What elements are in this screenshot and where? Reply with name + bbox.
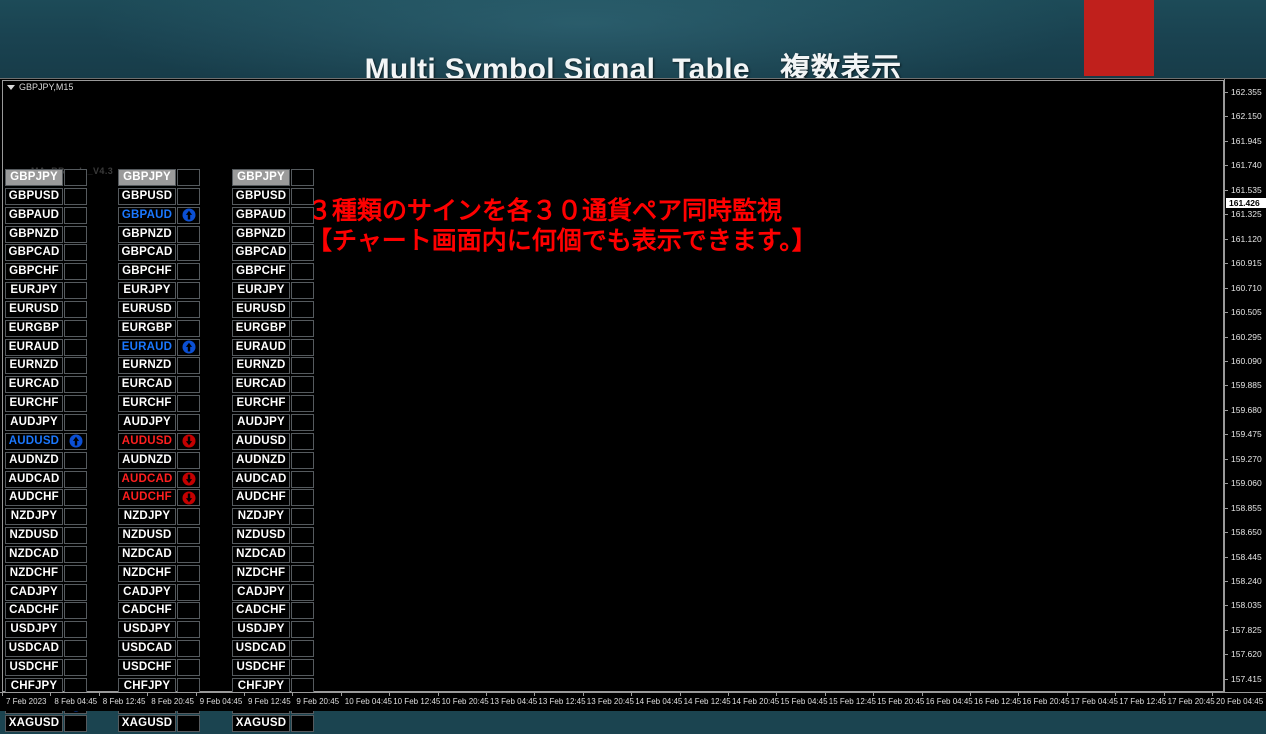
screen-root: Multi Symbol Signal_Table 複数表示 GBPJPY,M1…	[0, 0, 1266, 710]
signal-cell-nzdusd[interactable]	[64, 527, 87, 544]
table-row: EURNZD	[5, 357, 87, 376]
table-row: AUDJPY	[232, 414, 314, 433]
time-tick: 17 Feb 12:45	[1119, 697, 1166, 706]
time-tick: 16 Feb 12:45	[974, 697, 1021, 706]
table-row: NZDUSD	[232, 527, 314, 546]
symbol-cell-gbpjpy[interactable]: GBPJPY	[5, 169, 63, 186]
symbol-cell-usdchf[interactable]: USDCHF	[232, 659, 290, 676]
signal-cell-xagusd[interactable]	[177, 715, 200, 732]
table-row: USDCHF	[5, 659, 87, 678]
signal-cell-eurchf[interactable]	[177, 395, 200, 412]
price-tick: 160.710	[1225, 283, 1266, 294]
symbol-cell-eurjpy[interactable]: EURJPY	[5, 282, 63, 299]
table-row: GBPJPY	[5, 169, 87, 188]
table-row: NZDCAD	[232, 546, 314, 565]
table-row: GBPCAD	[118, 244, 200, 263]
symbol-cell-eurgbp[interactable]: EURGBP	[5, 320, 63, 337]
signal-cell-eurusd[interactable]	[177, 301, 200, 318]
signal-cell-usdcad[interactable]	[291, 640, 314, 657]
table-row: NZDCHF	[5, 565, 87, 584]
signal-cell-eurnzd[interactable]	[291, 357, 314, 374]
signal-cell-eurcad[interactable]	[64, 376, 87, 393]
symbol-cell-nzdchf[interactable]: NZDCHF	[118, 565, 176, 582]
table-row: GBPAUD	[232, 207, 314, 226]
table-row: AUDNZD	[118, 452, 200, 471]
table-row: EURJPY	[118, 282, 200, 301]
table-row: AUDUSD	[118, 433, 200, 452]
price-tick: 158.240	[1225, 576, 1266, 587]
time-axis[interactable]: 7 Feb 20238 Feb 04:458 Feb 12:458 Feb 20…	[0, 692, 1266, 711]
symbol-cell-eurusd[interactable]: EURUSD	[5, 301, 63, 318]
table-row: USDCAD	[118, 640, 200, 659]
table-row: XAGUSD	[118, 715, 200, 734]
time-tick: 9 Feb 04:45	[200, 697, 243, 706]
symbol-cell-eurusd[interactable]: EURUSD	[232, 301, 290, 318]
symbol-cell-usdcad[interactable]: USDCAD	[118, 640, 176, 657]
price-tick: 157.825	[1225, 625, 1266, 636]
symbol-cell-gbpchf[interactable]: GBPCHF	[118, 263, 176, 280]
table-row: EURCAD	[5, 376, 87, 395]
time-tick: 17 Feb 20:45	[1168, 697, 1215, 706]
signal-cell-audjpy[interactable]	[64, 414, 87, 431]
signal-cell-nzdchf[interactable]	[177, 565, 200, 582]
table-row: EURJPY	[5, 282, 87, 301]
price-tick: 157.620	[1225, 649, 1266, 660]
symbol-cell-audjpy[interactable]: AUDJPY	[5, 414, 63, 431]
signal-cell-nzdchf[interactable]	[64, 565, 87, 582]
symbol-cell-gbpaud[interactable]: GBPAUD	[5, 207, 63, 224]
symbol-cell-nzdcad[interactable]: NZDCAD	[118, 546, 176, 563]
promo-line-2: 【チャート画面内に何個でも表示できます。】	[307, 226, 817, 256]
signal-cell-gbpusd[interactable]	[64, 188, 87, 205]
symbol-cell-audusd[interactable]: AUDUSD	[118, 433, 176, 450]
price-tick: 160.505	[1225, 307, 1266, 318]
symbol-cell-gbpcad[interactable]: GBPCAD	[5, 244, 63, 261]
signal-cell-eurnzd[interactable]	[177, 357, 200, 374]
symbol-cell-eurcad[interactable]: EURCAD	[232, 376, 290, 393]
signal-cell-audnzd[interactable]	[177, 452, 200, 469]
symbol-cell-eurnzd[interactable]: EURNZD	[118, 357, 176, 374]
table-row: AUDNZD	[5, 452, 87, 471]
signal-cell-eurchf[interactable]	[64, 395, 87, 412]
signal-cell-usdjpy[interactable]	[64, 621, 87, 638]
signal-cell-eurgbp[interactable]	[64, 320, 87, 337]
signal-cell-euraud[interactable]	[291, 339, 314, 356]
time-tick: 15 Feb 12:45	[829, 697, 876, 706]
signal-cell-xagusd[interactable]	[64, 715, 87, 732]
signal-cell-audusd[interactable]	[291, 433, 314, 450]
signal-cell-euraud[interactable]	[64, 339, 87, 356]
symbol-cell-cadchf[interactable]: CADCHF	[5, 602, 63, 619]
table-row: NZDCHF	[118, 565, 200, 584]
signal-table-1: GBPJPYGBPUSDGBPAUDGBPNZDGBPCADGBPCHFEURJ…	[5, 169, 87, 734]
page-title: Multi Symbol Signal_Table 複数表示	[0, 44, 1266, 78]
table-row: NZDUSD	[118, 527, 200, 546]
current-price-label: 161.426	[1226, 198, 1266, 208]
table-row: CADCHF	[118, 602, 200, 621]
symbol-cell-gbpnzd[interactable]: GBPNZD	[118, 226, 176, 243]
chart-canvas[interactable]: GBPJPY,M15 MA_BBands_V4.3 ３種類のサインを各３０通貨ペ…	[1, 79, 1266, 711]
table-row: CADCHF	[232, 602, 314, 621]
price-tick: 160.295	[1225, 332, 1266, 343]
price-tick: 161.325	[1225, 209, 1266, 220]
signal-cell-gbpaud[interactable]	[177, 207, 200, 224]
page-banner: Multi Symbol Signal_Table 複数表示	[0, 0, 1266, 78]
symbol-cell-gbpusd[interactable]: GBPUSD	[118, 188, 176, 205]
chart-window[interactable]: GBPJPY,M15 MA_BBands_V4.3 ３種類のサインを各３０通貨ペ…	[0, 78, 1266, 711]
signal-cell-eurcad[interactable]	[291, 376, 314, 393]
table-row: CADJPY	[5, 584, 87, 603]
table-row: NZDCHF	[232, 565, 314, 584]
table-row: NZDJPY	[232, 508, 314, 527]
symbol-cell-audjpy[interactable]: AUDJPY	[118, 414, 176, 431]
symbol-cell-usdchf[interactable]: USDCHF	[5, 659, 63, 676]
symbol-cell-gbpusd[interactable]: GBPUSD	[5, 188, 63, 205]
signal-cell-usdcad[interactable]	[64, 640, 87, 657]
symbol-cell-eurchf[interactable]: EURCHF	[118, 395, 176, 412]
symbol-cell-usdcad[interactable]: USDCAD	[5, 640, 63, 657]
symbol-cell-gbpchf[interactable]: GBPCHF	[5, 263, 63, 280]
table-row: AUDUSD	[5, 433, 87, 452]
signal-cell-audusd[interactable]	[64, 433, 87, 450]
symbol-cell-gbpcad[interactable]: GBPCAD	[232, 244, 290, 261]
table-row: AUDCAD	[5, 471, 87, 490]
symbol-cell-eurnzd[interactable]: EURNZD	[5, 357, 63, 374]
symbol-cell-gbpjpy[interactable]: GBPJPY	[118, 169, 176, 186]
table-row: AUDNZD	[232, 452, 314, 471]
table-row: EURGBP	[118, 320, 200, 339]
signal-cell-eurusd[interactable]	[291, 301, 314, 318]
signal-cell-gbpnzd[interactable]	[291, 226, 314, 243]
signal-cell-eurjpy[interactable]	[64, 282, 87, 299]
time-tick: 10 Feb 12:45	[393, 697, 440, 706]
price-tick: 159.475	[1225, 429, 1266, 440]
signal-cell-nzdjpy[interactable]	[291, 508, 314, 525]
table-row: USDCAD	[232, 640, 314, 659]
symbol-cell-gbpcad[interactable]: GBPCAD	[118, 244, 176, 261]
time-tick: 10 Feb 20:45	[442, 697, 489, 706]
time-tick: 8 Feb 04:45	[54, 697, 97, 706]
symbol-cell-audchf[interactable]: AUDCHF	[232, 489, 290, 506]
symbol-cell-euraud[interactable]: EURAUD	[232, 339, 290, 356]
table-row: GBPAUD	[5, 207, 87, 226]
signal-cell-usdcad[interactable]	[177, 640, 200, 657]
table-row: EURUSD	[5, 301, 87, 320]
symbol-cell-nzdchf[interactable]: NZDCHF	[5, 565, 63, 582]
table-row: GBPJPY	[118, 169, 200, 188]
signal-cell-nzdusd[interactable]	[177, 527, 200, 544]
table-row: EURCAD	[232, 376, 314, 395]
signal-cell-eurjpy[interactable]	[291, 282, 314, 299]
symbol-cell-eurgbp[interactable]: EURGBP	[232, 320, 290, 337]
signal-cell-audusd[interactable]	[177, 433, 200, 450]
symbol-cell-gbpnzd[interactable]: GBPNZD	[5, 226, 63, 243]
symbol-cell-audjpy[interactable]: AUDJPY	[232, 414, 290, 431]
symbol-cell-audnzd[interactable]: AUDNZD	[118, 452, 176, 469]
signal-cell-nzdchf[interactable]	[291, 565, 314, 582]
signal-cell-gbpchf[interactable]	[291, 263, 314, 280]
time-tick: 8 Feb 12:45	[103, 697, 146, 706]
symbol-cell-nzdusd[interactable]: NZDUSD	[118, 527, 176, 544]
time-tick: 8 Feb 20:45	[151, 697, 194, 706]
symbol-cell-gbpaud[interactable]: GBPAUD	[232, 207, 290, 224]
chevron-down-icon[interactable]	[7, 85, 15, 90]
time-tick: 16 Feb 20:45	[1022, 697, 1069, 706]
table-row: GBPAUD	[118, 207, 200, 226]
table-row: GBPCAD	[232, 244, 314, 263]
price-tick: 160.090	[1225, 356, 1266, 367]
signal-cell-eurcad[interactable]	[177, 376, 200, 393]
signal-cell-gbpcad[interactable]	[291, 244, 314, 261]
symbol-cell-cadchf[interactable]: CADCHF	[232, 602, 290, 619]
symbol-cell-gbpchf[interactable]: GBPCHF	[232, 263, 290, 280]
signal-cell-audchf[interactable]	[291, 489, 314, 506]
price-tick: 159.680	[1225, 405, 1266, 416]
symbol-cell-nzdcad[interactable]: NZDCAD	[5, 546, 63, 563]
table-row: USDJPY	[118, 621, 200, 640]
price-tick: 158.855	[1225, 503, 1266, 514]
symbol-cell-cadchf[interactable]: CADCHF	[118, 602, 176, 619]
symbol-cell-eurgbp[interactable]: EURGBP	[118, 320, 176, 337]
symbol-cell-eurcad[interactable]: EURCAD	[5, 376, 63, 393]
table-row: AUDCHF	[5, 489, 87, 508]
table-row: USDJPY	[232, 621, 314, 640]
symbol-cell-eurjpy[interactable]: EURJPY	[118, 282, 176, 299]
signal-cell-eurchf[interactable]	[291, 395, 314, 412]
price-tick: 162.150	[1225, 111, 1266, 122]
signal-cell-nzdusd[interactable]	[291, 527, 314, 544]
time-tick: 16 Feb 04:45	[926, 697, 973, 706]
signal-cell-cadchf[interactable]	[177, 602, 200, 619]
signal-cell-gbpcad[interactable]	[64, 244, 87, 261]
time-tick: 13 Feb 04:45	[490, 697, 537, 706]
time-tick: 10 Feb 04:45	[345, 697, 392, 706]
symbol-cell-audnzd[interactable]: AUDNZD	[232, 452, 290, 469]
symbol-cell-cadjpy[interactable]: CADJPY	[5, 584, 63, 601]
signal-cell-audcad[interactable]	[64, 471, 87, 488]
symbol-cell-cadjpy[interactable]: CADJPY	[118, 584, 176, 601]
table-row: AUDJPY	[5, 414, 87, 433]
arrow-up-circle-icon	[182, 209, 195, 222]
table-row: CADCHF	[5, 602, 87, 621]
symbol-cell-audchf[interactable]: AUDCHF	[5, 489, 63, 506]
table-row: EURUSD	[118, 301, 200, 320]
time-tick: 15 Feb 04:45	[780, 697, 827, 706]
signal-cell-euraud[interactable]	[177, 339, 200, 356]
signal-cell-cadchf[interactable]	[64, 602, 87, 619]
symbol-cell-audusd[interactable]: AUDUSD	[5, 433, 63, 450]
signal-cell-audjpy[interactable]	[177, 414, 200, 431]
price-tick: 157.415	[1225, 674, 1266, 685]
signal-cell-gbpaud[interactable]	[64, 207, 87, 224]
arrow-up-circle-icon	[182, 341, 195, 354]
symbol-cell-audcad[interactable]: AUDCAD	[5, 471, 63, 488]
symbol-cell-audchf[interactable]: AUDCHF	[118, 489, 176, 506]
time-tick: 7 Feb 2023	[6, 697, 46, 706]
table-row: NZDJPY	[118, 508, 200, 527]
chart-symbol-text: GBPJPY,M15	[19, 82, 73, 92]
signal-cell-audnzd[interactable]	[64, 452, 87, 469]
symbol-cell-audnzd[interactable]: AUDNZD	[5, 452, 63, 469]
symbol-cell-audusd[interactable]: AUDUSD	[232, 433, 290, 450]
price-axis[interactable]: 162.355162.150161.945161.740161.535161.3…	[1224, 79, 1266, 693]
signal-cell-audnzd[interactable]	[291, 452, 314, 469]
signal-cell-usdchf[interactable]	[64, 659, 87, 676]
symbol-cell-nzdchf[interactable]: NZDCHF	[232, 565, 290, 582]
arrow-down-circle-icon	[182, 473, 195, 486]
signal-cell-nzdcad[interactable]	[291, 546, 314, 563]
signal-cell-gbpjpy[interactable]	[177, 169, 200, 186]
signal-cell-audjpy[interactable]	[291, 414, 314, 431]
table-row: EURCHF	[232, 395, 314, 414]
signal-cell-usdchf[interactable]	[291, 659, 314, 676]
symbol-cell-usdchf[interactable]: USDCHF	[118, 659, 176, 676]
promo-line-1: ３種類のサインを各３０通貨ペア同時監視	[307, 196, 817, 226]
table-row: NZDJPY	[5, 508, 87, 527]
table-row: EURCHF	[5, 395, 87, 414]
symbol-cell-nzdcad[interactable]: NZDCAD	[232, 546, 290, 563]
signal-cell-gbpusd[interactable]	[291, 188, 314, 205]
table-row: AUDJPY	[118, 414, 200, 433]
table-row: USDJPY	[5, 621, 87, 640]
price-tick: 160.915	[1225, 258, 1266, 269]
signal-cell-gbpchf[interactable]	[177, 263, 200, 280]
signal-cell-audchf[interactable]	[64, 489, 87, 506]
price-tick: 159.885	[1225, 380, 1266, 391]
symbol-cell-nzdusd[interactable]: NZDUSD	[232, 527, 290, 544]
signal-cell-audcad[interactable]	[177, 471, 200, 488]
table-row: XAGUSD	[5, 715, 87, 734]
symbol-cell-nzdjpy[interactable]: NZDJPY	[5, 508, 63, 525]
signal-cell-eurusd[interactable]	[64, 301, 87, 318]
promo-text: ３種類のサインを各３０通貨ペア同時監視 【チャート画面内に何個でも表示できます。…	[307, 196, 817, 256]
symbol-cell-eurusd[interactable]: EURUSD	[118, 301, 176, 318]
table-row: NZDCAD	[118, 546, 200, 565]
price-tick: 159.060	[1225, 478, 1266, 489]
symbol-cell-usdjpy[interactable]: USDJPY	[118, 621, 176, 638]
signal-cell-gbpusd[interactable]	[177, 188, 200, 205]
signal-table-2: GBPJPYGBPUSDGBPAUDGBPNZDGBPCADGBPCHFEURJ…	[118, 169, 200, 734]
symbol-cell-usdcad[interactable]: USDCAD	[232, 640, 290, 657]
signal-cell-xagusd[interactable]	[291, 715, 314, 732]
signal-cell-gbpaud[interactable]	[291, 207, 314, 224]
symbol-cell-gbpusd[interactable]: GBPUSD	[232, 188, 290, 205]
signal-cell-usdchf[interactable]	[177, 659, 200, 676]
symbol-cell-audcad[interactable]: AUDCAD	[232, 471, 290, 488]
symbol-cell-nzdusd[interactable]: NZDUSD	[5, 527, 63, 544]
table-row: AUDCAD	[118, 471, 200, 490]
symbol-cell-euraud[interactable]: EURAUD	[5, 339, 63, 356]
signal-cell-eurjpy[interactable]	[177, 282, 200, 299]
chart-symbol-label: GBPJPY,M15	[7, 82, 73, 92]
symbol-cell-eurjpy[interactable]: EURJPY	[232, 282, 290, 299]
symbol-cell-euraud[interactable]: EURAUD	[118, 339, 176, 356]
signal-cell-cadjpy[interactable]	[291, 584, 314, 601]
time-tick: 20 Feb 04:45	[1216, 697, 1263, 706]
time-tick: 14 Feb 20:45	[732, 697, 779, 706]
time-tick: 14 Feb 04:45	[635, 697, 682, 706]
table-row: CADJPY	[232, 584, 314, 603]
signal-cell-gbpchf[interactable]	[64, 263, 87, 280]
price-tick: 161.945	[1225, 136, 1266, 147]
symbol-cell-gbpaud[interactable]: GBPAUD	[118, 207, 176, 224]
table-row: USDCAD	[5, 640, 87, 659]
signal-cell-gbpcad[interactable]	[177, 244, 200, 261]
signal-cell-usdjpy[interactable]	[177, 621, 200, 638]
signal-cell-nzdcad[interactable]	[64, 546, 87, 563]
table-row: EURCHF	[118, 395, 200, 414]
time-tick: 13 Feb 12:45	[538, 697, 585, 706]
signal-cell-cadchf[interactable]	[291, 602, 314, 619]
signal-cell-eurgbp[interactable]	[177, 320, 200, 337]
signal-cell-gbpjpy[interactable]	[291, 169, 314, 186]
table-row: GBPCHF	[5, 263, 87, 282]
price-tick: 161.120	[1225, 234, 1266, 245]
table-row: EURNZD	[232, 357, 314, 376]
table-row: GBPNZD	[5, 226, 87, 245]
signal-cell-nzdcad[interactable]	[177, 546, 200, 563]
signal-cell-eurnzd[interactable]	[64, 357, 87, 374]
table-row: CADJPY	[118, 584, 200, 603]
signal-cell-audcad[interactable]	[291, 471, 314, 488]
symbol-cell-eurchf[interactable]: EURCHF	[5, 395, 63, 412]
table-row: NZDUSD	[5, 527, 87, 546]
table-row: AUDCAD	[232, 471, 314, 490]
signal-cell-eurgbp[interactable]	[291, 320, 314, 337]
price-tick: 159.270	[1225, 454, 1266, 465]
symbol-cell-xagusd[interactable]: XAGUSD	[232, 715, 290, 732]
signal-cell-cadjpy[interactable]	[64, 584, 87, 601]
table-row: EURGBP	[5, 320, 87, 339]
symbol-cell-gbpjpy[interactable]: GBPJPY	[232, 169, 290, 186]
price-tick: 162.355	[1225, 87, 1266, 98]
table-row: EURCAD	[118, 376, 200, 395]
symbol-cell-cadjpy[interactable]: CADJPY	[232, 584, 290, 601]
signal-cell-nzdjpy[interactable]	[177, 508, 200, 525]
signal-cell-nzdjpy[interactable]	[64, 508, 87, 525]
time-tick: 14 Feb 12:45	[684, 697, 731, 706]
table-row: EURUSD	[232, 301, 314, 320]
symbol-cell-audcad[interactable]: AUDCAD	[118, 471, 176, 488]
time-tick: 9 Feb 20:45	[296, 697, 339, 706]
symbol-cell-eurcad[interactable]: EURCAD	[118, 376, 176, 393]
symbol-cell-xagusd[interactable]: XAGUSD	[118, 715, 176, 732]
price-tick: 161.740	[1225, 160, 1266, 171]
symbol-cell-eurchf[interactable]: EURCHF	[232, 395, 290, 412]
signal-cell-audchf[interactable]	[177, 489, 200, 506]
symbol-cell-nzdjpy[interactable]: NZDJPY	[118, 508, 176, 525]
table-row: USDCHF	[118, 659, 200, 678]
symbol-cell-nzdjpy[interactable]: NZDJPY	[232, 508, 290, 525]
symbol-cell-eurnzd[interactable]: EURNZD	[232, 357, 290, 374]
symbol-cell-usdjpy[interactable]: USDJPY	[232, 621, 290, 638]
table-row: GBPUSD	[118, 188, 200, 207]
symbol-cell-gbpnzd[interactable]: GBPNZD	[232, 226, 290, 243]
signal-cell-gbpjpy[interactable]	[64, 169, 87, 186]
price-tick: 161.535	[1225, 185, 1266, 196]
arrow-down-circle-icon	[182, 435, 195, 448]
signal-cell-usdjpy[interactable]	[291, 621, 314, 638]
table-row: AUDCHF	[232, 489, 314, 508]
signal-cell-gbpnzd[interactable]	[177, 226, 200, 243]
signal-cell-gbpnzd[interactable]	[64, 226, 87, 243]
time-tick: 17 Feb 04:45	[1071, 697, 1118, 706]
symbol-cell-usdjpy[interactable]: USDJPY	[5, 621, 63, 638]
signal-cell-cadjpy[interactable]	[177, 584, 200, 601]
table-row: GBPCHF	[232, 263, 314, 282]
price-tick: 158.650	[1225, 527, 1266, 538]
symbol-cell-xagusd[interactable]: XAGUSD	[5, 715, 63, 732]
